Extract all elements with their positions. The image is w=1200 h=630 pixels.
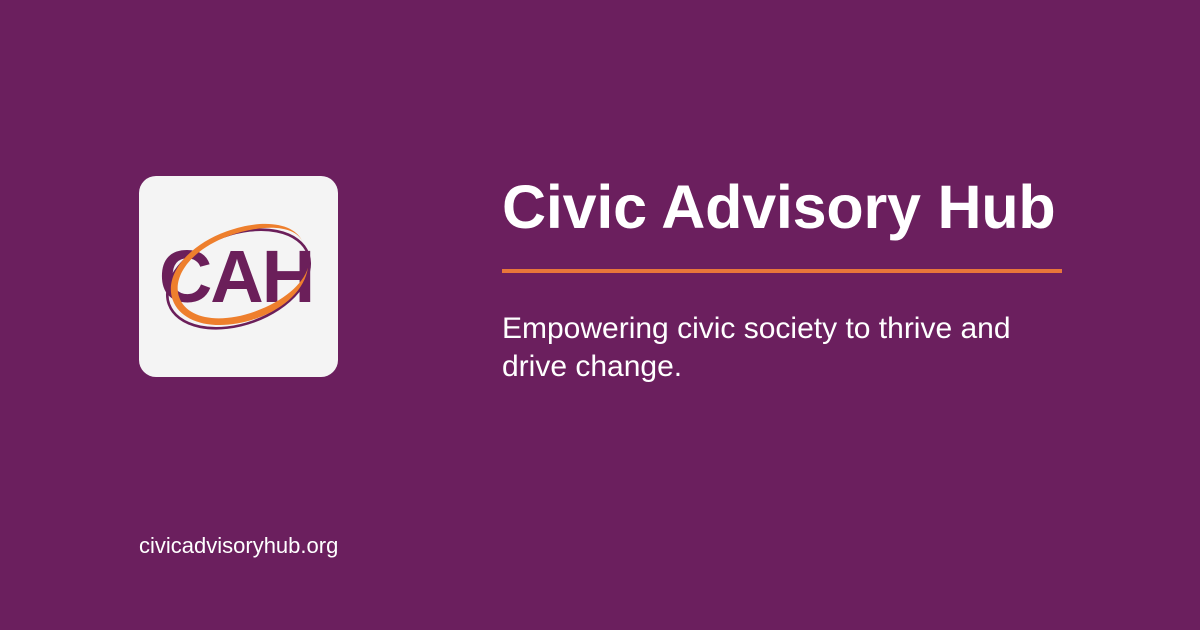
site-url: civicadvisoryhub.org <box>139 531 338 561</box>
headline-block: Civic Advisory Hub <box>502 176 1102 238</box>
promo-banner: CAH Civic Advisory Hub Empowering civic … <box>0 0 1200 630</box>
accent-divider <box>502 269 1062 273</box>
page-title: Civic Advisory Hub <box>502 176 1102 238</box>
logo-card: CAH <box>139 176 338 377</box>
cah-logo-icon: CAH <box>139 176 338 377</box>
tagline-text: Empowering civic society to thrive and d… <box>502 310 1068 386</box>
